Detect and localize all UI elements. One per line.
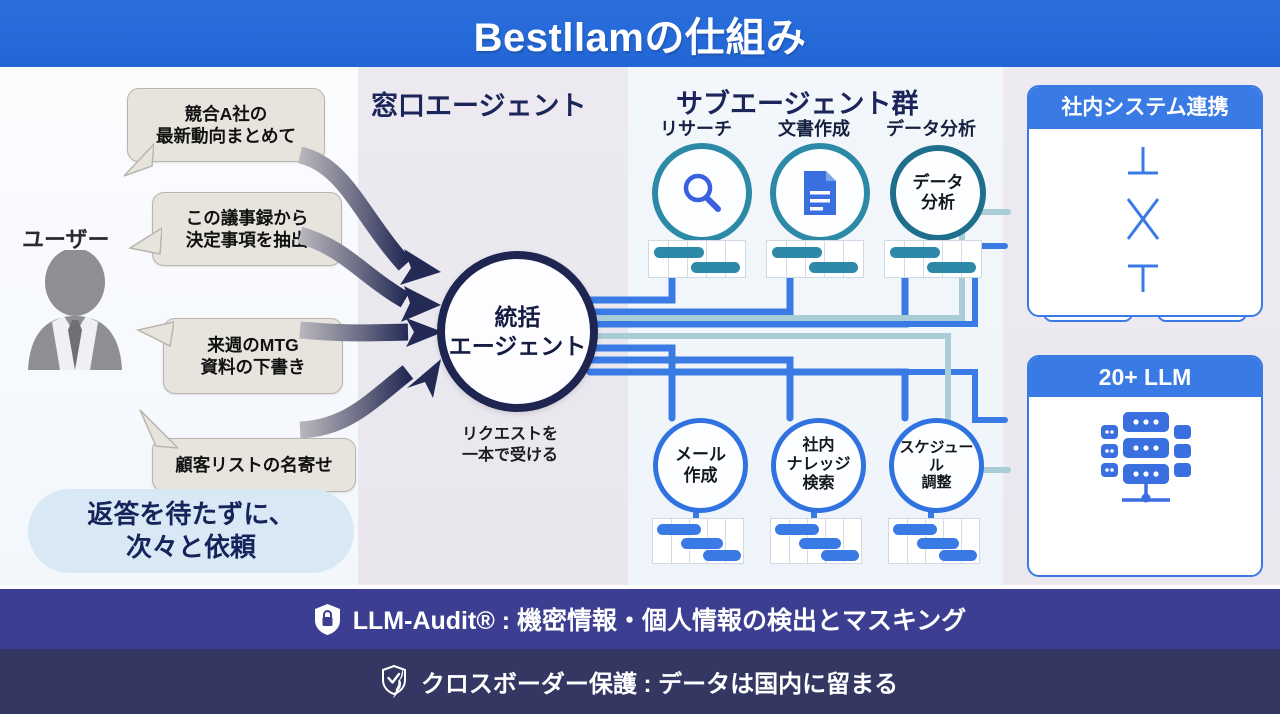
subagent-node-mail[interactable]: メール 作成 — [653, 418, 748, 513]
request-bubble-4-tail — [136, 402, 178, 450]
bubble-3-line1: 来週のMTG — [191, 334, 316, 356]
agent-note-line2: 一本で受ける — [462, 447, 558, 464]
subagent-node-research[interactable] — [652, 143, 752, 243]
page-title: Bestllamの仕組み — [474, 5, 807, 63]
request-bubble-1-tail — [118, 140, 154, 180]
mail-line2: 作成 — [684, 466, 718, 485]
bubble-1-line1: 競合A社の — [146, 103, 306, 125]
systems-panel: 社内システム連携 — [1027, 85, 1263, 317]
systems-panel-title: 社内システム連携 — [1029, 87, 1261, 129]
bubble-4-line1: 顧客リストの名寄せ — [165, 454, 343, 476]
schedule-line1: スケジュール — [900, 439, 974, 474]
subagent-node-document[interactable] — [770, 143, 870, 243]
footer-llm-audit-text: LLM-Audit® : 機密情報・個人情報の検出とマスキング — [353, 601, 966, 637]
agent-line2: エージェント — [449, 333, 587, 359]
central-agent-node[interactable]: 統括 エージェント — [437, 251, 598, 412]
callout-box: 返答を待たずに、 次々と依頼 — [28, 489, 354, 573]
subagent-label-document: 文書作成 — [764, 115, 864, 141]
request-bubble-2-tail — [124, 224, 162, 264]
subagent-label-research: リサーチ — [646, 115, 746, 141]
gantt-document — [766, 240, 864, 278]
request-bubble-4[interactable]: 顧客リストの名寄せ — [152, 438, 356, 492]
heading-madoguchi-agent: 窓口エージェント — [371, 84, 586, 123]
gantt-mail — [652, 518, 744, 564]
gantt-schedule — [888, 518, 980, 564]
request-bubble-2[interactable]: この議事録から 決定事項を抽出 — [152, 192, 342, 266]
agent-line1: 統括 — [494, 304, 540, 330]
agent-note: リクエストを 一本で受ける — [437, 424, 583, 466]
bubble-2-line1: この議事録から — [176, 207, 319, 229]
agent-note-line1: リクエストを — [462, 426, 558, 443]
request-bubble-3-tail — [134, 316, 174, 352]
llm-panel-title: 20+ LLM — [1029, 357, 1261, 397]
callout-line1: 返答を待たずに、 — [87, 499, 294, 529]
subagent-node-schedule[interactable]: スケジュール 調整 — [889, 418, 984, 513]
footer-llm-audit: LLM-Audit® : 機密情報・個人情報の検出とマスキング — [0, 589, 1280, 649]
schedule-line2: 調整 — [921, 474, 951, 491]
page-header: Bestllamの仕組み — [0, 0, 1280, 67]
document-icon — [800, 169, 840, 217]
gantt-knowledge — [770, 518, 862, 564]
user-silhouette-icon — [20, 250, 130, 370]
gantt-research — [648, 240, 746, 278]
knowledge-line1: 社内 — [802, 437, 834, 454]
footer-crossborder: クロスボーダー保護 : データは国内に留まる — [0, 649, 1280, 714]
subagent-label-analysis: データ分析 — [875, 115, 987, 141]
infographic-root: Bestllamの仕組み — [0, 0, 1280, 714]
server-stack-icon — [1095, 408, 1195, 508]
bubble-2-line2: 決定事項を抽出 — [176, 229, 319, 251]
request-bubble-1[interactable]: 競合A社の 最新動向まとめて — [127, 88, 325, 162]
gantt-analysis — [884, 240, 982, 278]
shield-japan-icon — [382, 665, 409, 699]
subagent-node-knowledge[interactable]: 社内 ナレッジ 検索 — [771, 418, 866, 513]
shield-lock-icon — [314, 603, 341, 636]
bubble-1-line2: 最新動向まとめて — [146, 125, 306, 147]
footer-crossborder-text: クロスボーダー保護 : データは国内に留まる — [421, 664, 898, 699]
bubble-3-line2: 資料の下書き — [191, 356, 316, 378]
magnifier-icon — [679, 170, 725, 216]
knowledge-line2: ナレッジ — [786, 456, 850, 473]
subagent-node-analysis[interactable]: データ 分析 — [890, 145, 986, 241]
knowledge-line3: 検索 — [802, 475, 834, 492]
request-bubble-3[interactable]: 来週のMTG 資料の下書き — [163, 318, 343, 394]
mail-line1: メール — [675, 445, 726, 464]
analysis-inner-text: データ 分析 — [913, 173, 964, 213]
callout-line2: 次々と依頼 — [126, 532, 256, 562]
